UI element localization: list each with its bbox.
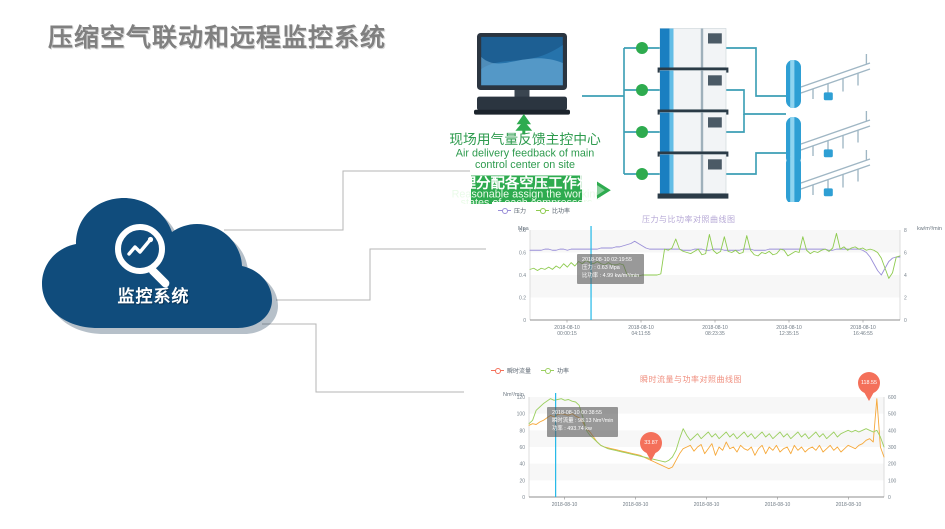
legend-item-power[interactable]: 功率 <box>541 366 569 375</box>
svg-text:400: 400 <box>888 428 897 434</box>
tooltip-row-2: 功率 : 493.74 kw <box>552 426 613 434</box>
svg-text:100: 100 <box>517 412 526 418</box>
chart2-y-unit: Nm³/min <box>503 392 524 398</box>
svg-text:6: 6 <box>904 251 907 257</box>
legend-label: 压力 <box>514 206 526 215</box>
chart1-y-unit: Mpa <box>518 226 529 232</box>
svg-text:2018-08-10: 2018-08-10 <box>765 502 791 508</box>
svg-text:0: 0 <box>523 318 526 324</box>
svg-text:2018-08-10: 2018-08-10 <box>552 502 578 508</box>
svg-text:2018-08-10: 2018-08-10 <box>694 502 720 508</box>
legend-marker-icon <box>498 208 511 214</box>
svg-text:16:46:55: 16:46:55 <box>853 331 873 337</box>
diagram-caption-en2: control center on site <box>475 159 575 171</box>
chart2-title: 瞬时流量与功率对照曲线图 <box>640 374 742 385</box>
pressure-power-chart[interactable]: 压力 比功率 压力与比功率对照曲线图 Mpa kw/m³/min 00.20.4… <box>492 202 944 337</box>
svg-text:40: 40 <box>519 462 525 468</box>
diagram-caption-cn: 现场用气量反馈主控中心 <box>450 132 601 147</box>
cloud-label: 监控系统 <box>36 282 271 307</box>
diagram-green-box: 合理分配各空压工作状态 Reasonable assign the workin… <box>450 174 606 204</box>
svg-text:4: 4 <box>904 273 907 279</box>
legend-marker-icon <box>491 368 504 374</box>
legend-marker-icon <box>536 208 549 214</box>
svg-text:2: 2 <box>904 296 907 302</box>
air-tank-and-distribution <box>786 54 870 204</box>
legend-label: 瞬时流量 <box>507 366 531 375</box>
svg-text:2018-08-10: 2018-08-10 <box>623 502 649 508</box>
legend-marker-icon <box>541 368 554 374</box>
legend-item-pressure[interactable]: 压力 <box>498 206 526 215</box>
svg-text:2018-08-10: 2018-08-10 <box>836 502 862 508</box>
svg-text:0.4: 0.4 <box>519 273 526 279</box>
svg-text:20: 20 <box>519 478 525 484</box>
svg-text:04:11:55: 04:11:55 <box>631 331 650 337</box>
svg-text:60: 60 <box>519 445 525 451</box>
tooltip-row-1: 压力 : 0.63 Mpa <box>582 265 639 273</box>
tooltip-time: 2018-08-10 02:19:55 <box>582 257 639 265</box>
tooltip-time: 2018-08-10 00:38:55 <box>552 410 613 418</box>
svg-text:200: 200 <box>888 462 897 468</box>
flow-power-chart[interactable]: 瞬时流量 功率 瞬时流量与功率对照曲线图 Nm³/min 02040608010… <box>485 362 945 529</box>
svg-text:600: 600 <box>888 395 897 401</box>
marker-label: 33.87 <box>640 432 662 454</box>
svg-text:0.2: 0.2 <box>519 296 526 302</box>
chart1-y2-unit: kw/m³/min <box>917 226 942 232</box>
monitoring-cloud[interactable]: 监控系统 <box>36 196 288 338</box>
page-title: 压缩空气联动和远程监控系统 <box>48 18 386 54</box>
tooltip-row-2: 比功率 : 4.99 kw/m³/min <box>582 273 639 281</box>
svg-text:0: 0 <box>888 495 891 501</box>
marker-label: 118.55 <box>858 372 880 394</box>
svg-text:0.6: 0.6 <box>519 251 526 257</box>
chart1-tooltip: 2018-08-10 02:19:55 压力 : 0.63 Mpa 比功率 : … <box>577 254 644 284</box>
svg-text:00:00:15: 00:00:15 <box>557 331 577 337</box>
chart1-title: 压力与比功率对照曲线图 <box>642 214 736 225</box>
chart1-legend[interactable]: 压力 比功率 <box>498 206 570 215</box>
chart2-tooltip: 2018-08-10 00:38:55 瞬时流量 : 98.13 Nm³/min… <box>547 407 618 437</box>
svg-text:8: 8 <box>904 228 907 234</box>
legend-item-flow[interactable]: 瞬时流量 <box>491 366 531 375</box>
system-diagram: 现场用气量反馈主控中心 Air delivery feedback of mai… <box>450 24 942 204</box>
svg-text:100: 100 <box>888 478 897 484</box>
desktop-monitor-icon <box>474 33 570 115</box>
svg-text:0: 0 <box>904 318 907 324</box>
svg-text:12:35:15: 12:35:15 <box>779 331 799 337</box>
diagram-caption-en1: Air delivery feedback of main <box>456 148 594 160</box>
tooltip-row-1: 瞬时流量 : 98.13 Nm³/min <box>552 418 613 426</box>
pipe-node-dots <box>636 42 648 180</box>
svg-text:300: 300 <box>888 445 897 451</box>
legend-label: 功率 <box>557 366 569 375</box>
svg-text:500: 500 <box>888 412 897 418</box>
svg-text:80: 80 <box>519 428 525 434</box>
slide-canvas: 压缩空气联动和远程监控系统 监控系统 <box>0 0 945 529</box>
compressor-unit <box>658 29 729 199</box>
legend-label: 比功率 <box>552 206 570 215</box>
svg-text:0: 0 <box>522 495 525 501</box>
legend-item-specific-power[interactable]: 比功率 <box>536 206 570 215</box>
svg-text:08:23:35: 08:23:35 <box>705 331 725 337</box>
chart2-legend[interactable]: 瞬时流量 功率 <box>491 366 569 375</box>
